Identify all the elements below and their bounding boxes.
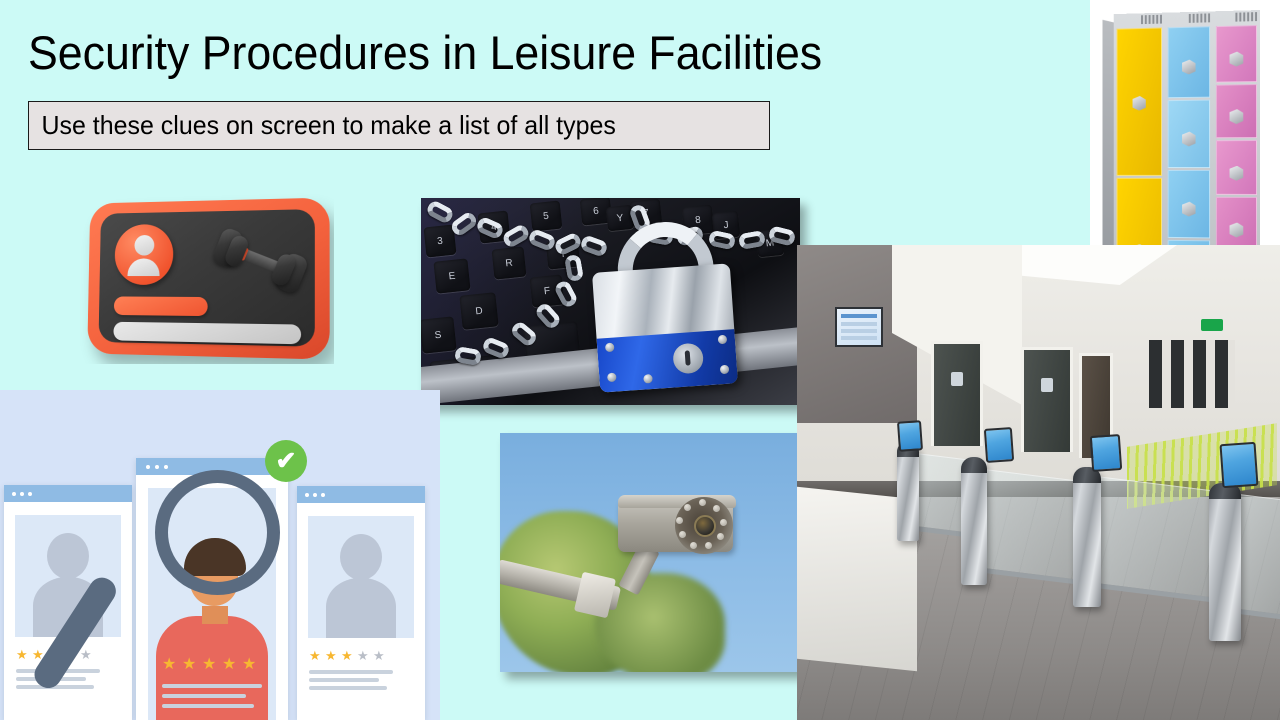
magnifier-lens-icon	[155, 470, 280, 595]
speed-gate-1	[897, 441, 919, 541]
padlock-chain-keyboard-image: 3 4 5 6 7 8 Y J M E R T F D S	[421, 198, 800, 405]
speed-gate-4	[1209, 483, 1241, 641]
gate-glass-3	[1093, 476, 1213, 603]
staff-vetting-illustration: ★ ★ ★ ★ ★ ★ ★ ★ ★ ★	[0, 390, 440, 720]
profile-card-right: ★ ★ ★ ★ ★	[297, 486, 425, 720]
card-reader-screen-2	[984, 427, 1014, 463]
access-door-1	[931, 341, 983, 446]
card-reader-screen-3	[1090, 434, 1122, 472]
page-title: Security Procedures in Leisure Facilitie…	[28, 22, 822, 84]
profile-card-left: ★ ★ ★ ★ ★	[4, 485, 132, 720]
far-doorways	[1149, 340, 1235, 408]
gate-glass-2	[979, 468, 1087, 585]
card-name-bar	[114, 296, 208, 316]
access-door-2	[1021, 347, 1073, 452]
approved-check-icon: ✔	[265, 440, 307, 482]
padlock-blue-base	[597, 329, 738, 392]
padlock-body	[592, 263, 738, 392]
membership-card-face	[98, 209, 314, 347]
gate-glass-4	[1235, 494, 1280, 621]
person-avatar-icon	[114, 224, 173, 285]
instruction-text: Use these clues on screen to make a list…	[29, 110, 616, 141]
gym-membership-card-image	[76, 192, 334, 364]
instruction-box: Use these clues on screen to make a list…	[28, 101, 770, 150]
card-reader-screen-4	[1220, 442, 1259, 488]
speed-gate-2	[961, 457, 987, 585]
speed-gate-3	[1073, 467, 1101, 607]
card-reader-screen-1	[897, 420, 923, 452]
entrance-speed-gates-image	[797, 245, 1280, 720]
emergency-exit-sign	[1201, 319, 1223, 331]
card-detail-bar	[113, 322, 301, 344]
camera-lens	[694, 515, 716, 537]
membership-card-body	[87, 198, 329, 360]
dumbbell-icon	[206, 215, 320, 309]
information-display-screen	[835, 307, 883, 347]
slide-canvas: Security Procedures in Leisure Facilitie…	[0, 0, 1280, 720]
